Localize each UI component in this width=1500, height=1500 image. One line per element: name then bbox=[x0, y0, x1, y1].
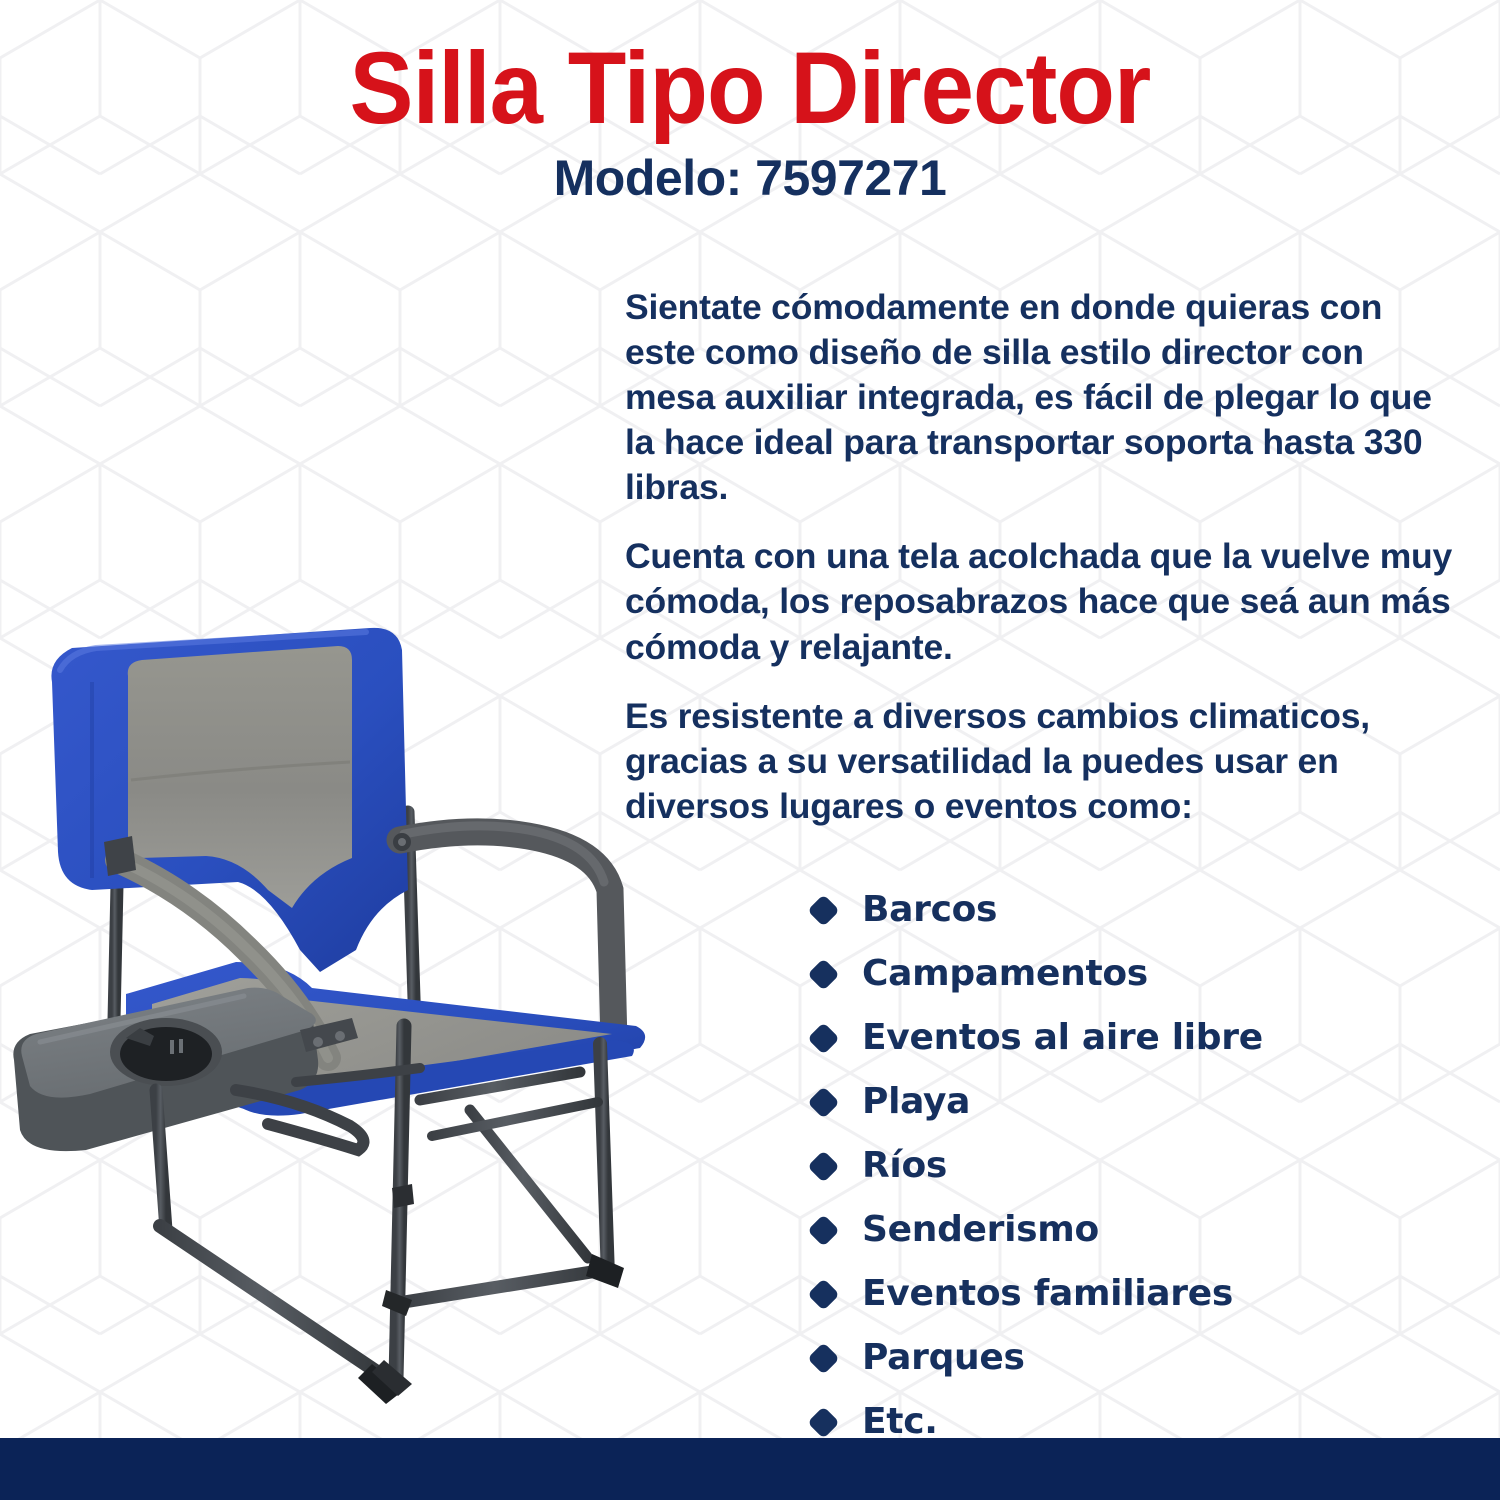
list-item-label: Barcos bbox=[862, 892, 997, 928]
description-paragraph: Sientate cómodamente en donde quieras co… bbox=[625, 285, 1455, 510]
list-item: Senderismo bbox=[812, 1198, 1263, 1262]
model-number: Modelo: 7597271 bbox=[0, 152, 1500, 205]
list-item-label: Eventos al aire libre bbox=[862, 1020, 1263, 1056]
list-item: Parques bbox=[812, 1326, 1263, 1390]
list-item: Barcos bbox=[812, 878, 1263, 942]
use-case-list: Barcos Campamentos Eventos al aire libre… bbox=[812, 878, 1263, 1454]
list-item-label: Parques bbox=[862, 1340, 1025, 1376]
header: Silla Tipo Director Modelo: 7597271 bbox=[0, 34, 1500, 205]
cup-holder bbox=[110, 1018, 222, 1086]
list-item-label: Campamentos bbox=[862, 956, 1148, 992]
diamond-bullet-icon bbox=[807, 1022, 840, 1055]
description-paragraph: Cuenta con una tela acolchada que la vue… bbox=[625, 534, 1455, 669]
diamond-bullet-icon bbox=[807, 1214, 840, 1247]
list-item-label: Senderismo bbox=[862, 1212, 1099, 1248]
list-item-label: Eventos familiares bbox=[862, 1276, 1233, 1312]
list-item: Playa bbox=[812, 1070, 1263, 1134]
diamond-bullet-icon bbox=[807, 1278, 840, 1311]
page-title: Silla Tipo Director bbox=[45, 34, 1455, 142]
list-item-label: Playa bbox=[862, 1084, 970, 1120]
diamond-bullet-icon bbox=[807, 1150, 840, 1183]
footer-bar bbox=[0, 1438, 1500, 1500]
infographic-page: Silla Tipo Director Modelo: 7597271 Sien… bbox=[0, 0, 1500, 1500]
list-item: Ríos bbox=[812, 1134, 1263, 1198]
diamond-bullet-icon bbox=[807, 1086, 840, 1119]
diamond-bullet-icon bbox=[807, 1406, 840, 1439]
list-item: Eventos al aire libre bbox=[812, 1006, 1263, 1070]
list-item-label: Ríos bbox=[862, 1148, 947, 1184]
product-photo: Silla tipo director plegable azul y gris… bbox=[0, 590, 680, 1470]
diamond-bullet-icon bbox=[807, 958, 840, 991]
description-block: Sientate cómodamente en donde quieras co… bbox=[625, 285, 1455, 829]
description-paragraph: Es resistente a diversos cambios climati… bbox=[625, 694, 1455, 829]
list-item-label: Etc. bbox=[862, 1404, 938, 1440]
list-item: Eventos familiares bbox=[812, 1262, 1263, 1326]
diamond-bullet-icon bbox=[807, 1342, 840, 1375]
diamond-bullet-icon bbox=[807, 894, 840, 927]
list-item: Campamentos bbox=[812, 942, 1263, 1006]
